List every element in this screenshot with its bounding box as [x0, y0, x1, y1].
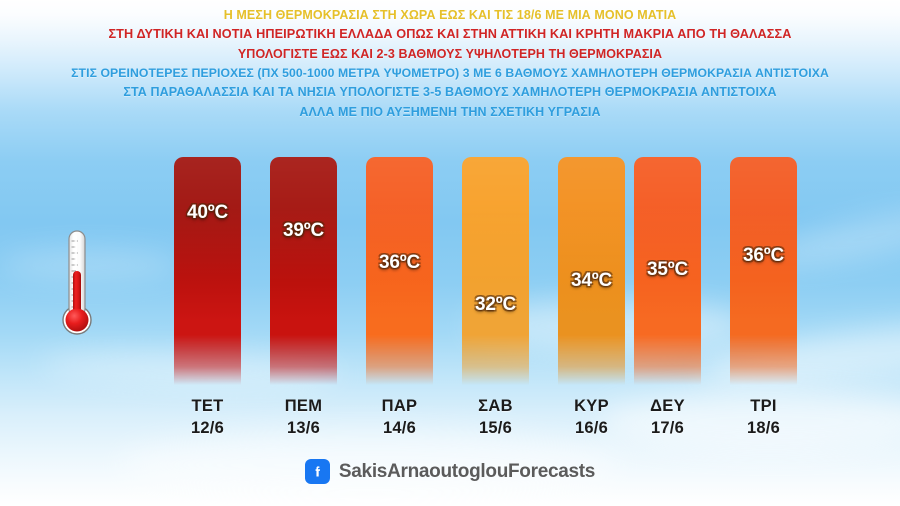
bar-day-label: ΚΥΡ [558, 397, 625, 416]
bar-date-label: 14/6 [366, 419, 433, 438]
bar-day-label: ΤΕΤ [174, 397, 241, 416]
brand-name: SakisArnaoutoglouForecasts [339, 461, 595, 483]
headline-note-coastal: ΣΤΑ ΠΑΡΑΘΑΛΑΣΣΙΑ ΚΑΙ ΤΑ ΝΗΣΙΑ ΥΠΟΛΟΓΙΣΤΕ… [0, 83, 900, 102]
bar-temperature-label: 36ºC [366, 252, 433, 274]
bar-gloss [462, 157, 529, 282]
temperature-bar [462, 157, 529, 385]
headline-note-region: ΣΤΗ ΔΥΤΙΚΗ ΚΑΙ ΝΟΤΙΑ ΗΠΕΙΡΩΤΙΚΗ ΕΛΛΑΔΑ Ο… [0, 25, 900, 45]
bar-date-label: 16/6 [558, 419, 625, 438]
bar-column: 36ºCΠΑΡ14/6 [366, 157, 433, 385]
temperature-bar [174, 157, 241, 385]
bar-date-label: 15/6 [462, 419, 529, 438]
bar-date-label: 17/6 [634, 419, 701, 438]
bar-date-label: 12/6 [174, 419, 241, 438]
facebook-icon[interactable] [305, 459, 330, 484]
bar-column: 36ºCΤΡΙ18/6 [730, 157, 797, 385]
bar-day-label: ΔΕΥ [634, 397, 701, 416]
bar-temperature-label: 39ºC [270, 220, 337, 242]
bar-fill [174, 157, 241, 385]
bar-temperature-label: 32ºC [462, 294, 529, 316]
bar-gloss [558, 157, 625, 282]
header-text-block: Η ΜΕΣΗ ΘΕΡΜΟΚΡΑΣΙΑ ΣΤΗ ΧΩΡΑ ΕΩΣ ΚΑΙ ΤΙΣ … [0, 6, 900, 122]
headline-note-humidity: ΑΛΛΑ ΜΕ ΠΙΟ ΑΥΞΗΜΕΝΗ ΤΗΝ ΣΧΕΤΙΚΗ ΥΓΡΑΣΙΑ [0, 103, 900, 122]
headline-main: Η ΜΕΣΗ ΘΕΡΜΟΚΡΑΣΙΑ ΣΤΗ ΧΩΡΑ ΕΩΣ ΚΑΙ ΤΙΣ … [0, 6, 900, 25]
bar-day-label: ΠΕΜ [270, 397, 337, 416]
bar-column: 35ºCΔΕΥ17/6 [634, 157, 701, 385]
bar-column: 39ºCΠΕΜ13/6 [270, 157, 337, 385]
bar-fill [730, 157, 797, 385]
bar-day-label: ΣΑΒ [462, 397, 529, 416]
bar-temperature-label: 40ºC [174, 202, 241, 224]
bar-column: 34ºCΚΥΡ16/6 [558, 157, 625, 385]
temperature-bar [270, 157, 337, 385]
bar-temperature-label: 36ºC [730, 245, 797, 267]
bar-column: 40ºCΤΕΤ12/6 [174, 157, 241, 385]
bar-date-label: 13/6 [270, 419, 337, 438]
bar-fill [270, 157, 337, 385]
bar-column: 32ºCΣΑΒ15/6 [462, 157, 529, 385]
bar-day-label: ΠΑΡ [366, 397, 433, 416]
bar-fill [462, 157, 529, 385]
bar-temperature-label: 34ºC [558, 270, 625, 292]
temperature-bar [730, 157, 797, 385]
headline-note-higher: ΥΠΟΛΟΓΙΣΤΕ ΕΩΣ ΚΑΙ 2-3 ΒΑΘΜΟΥΣ ΥΨΗΛΟΤΕΡΗ… [0, 45, 900, 64]
bar-date-label: 18/6 [730, 419, 797, 438]
brand-footer[interactable]: SakisArnaoutoglouForecasts [0, 459, 900, 484]
bar-day-label: ΤΡΙ [730, 397, 797, 416]
thermometer-icon [56, 225, 98, 337]
bar-temperature-label: 35ºC [634, 259, 701, 281]
headline-note-mountain: ΣΤΙΣ ΟΡΕΙΝΟΤΕΡΕΣ ΠΕΡΙΟΧΕΣ (ΠΧ 500-1000 Μ… [0, 64, 900, 83]
weather-infographic: Η ΜΕΣΗ ΘΕΡΜΟΚΡΑΣΙΑ ΣΤΗ ΧΩΡΑ ΕΩΣ ΚΑΙ ΤΙΣ … [0, 0, 900, 506]
